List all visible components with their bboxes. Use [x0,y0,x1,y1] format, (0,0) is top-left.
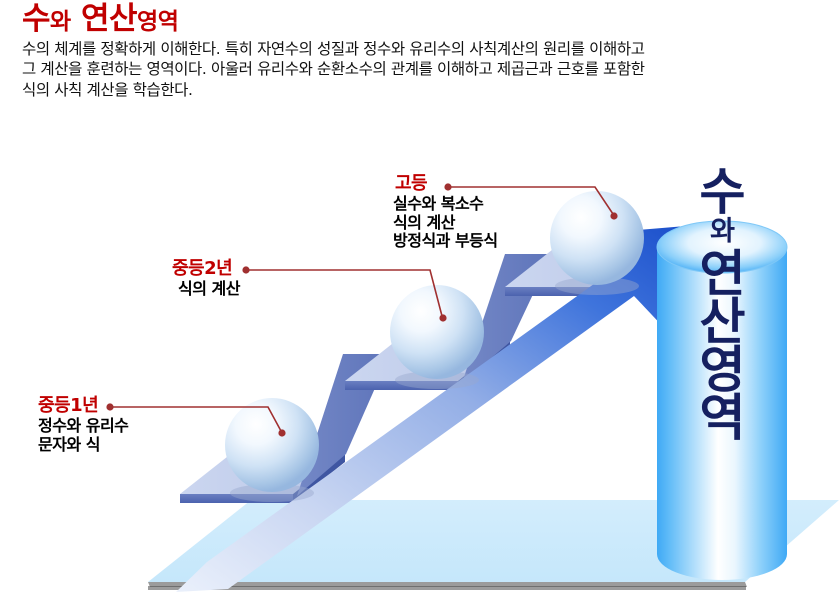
diagram-page: 수와 연산영역 수의 체계를 정확하게 이해한다. 특히 자연수의 성질과 정수… [0,0,839,598]
page-title: 수와 연산영역 [22,4,822,35]
title-segment-2: 와 [50,9,71,35]
title-segment-4: 영역 [137,9,178,35]
cylinder-pillar [657,221,787,580]
callout-middle-1: 중등1년 정수와 유리수 문자와 식 [38,396,128,454]
callout-grade-label: 중등2년 [172,259,240,280]
callout-high: 고등 실수와 복소수 식의 계산 방정식과 부등식 [393,174,498,251]
header: 수와 연산영역 수의 체계를 정확하게 이해한다. 특히 자연수의 성질과 정수… [22,4,822,100]
callout-topics: 식의 계산 [172,280,240,299]
description-line-3: 식의 사칙 계산을 학습한다. [22,80,834,100]
callout-topic: 식의 계산 [178,280,240,299]
callout-topic: 방정식과 부등식 [393,232,498,251]
callout-topics: 실수와 복소수 식의 계산 방정식과 부등식 [393,195,498,252]
callout-topic: 실수와 복소수 [393,195,498,214]
callout-topic: 정수와 유리수 [38,417,128,436]
description-line-2: 그 계산을 훈련하는 영역이다. 아울러 유리수와 순환소수의 관계를 이해하고… [22,59,834,79]
callout-middle-2: 중등2년 식의 계산 [172,259,240,299]
title-segment-3: 연산 [71,1,137,37]
callout-topics: 정수와 유리수 문자와 식 [38,417,128,455]
description-paragraph: 수의 체계를 정확하게 이해한다. 특히 자연수의 성질과 정수와 유리수의 사… [22,39,834,100]
callout-grade-label: 중등1년 [38,396,128,417]
callout-topic: 문자와 식 [38,436,128,455]
description-line-1: 수의 체계를 정확하게 이해한다. 특히 자연수의 성질과 정수와 유리수의 사… [22,39,834,59]
title-segment-1: 수 [22,1,50,37]
callout-topic: 식의 계산 [393,214,498,233]
callout-grade-label: 고등 [393,174,498,195]
